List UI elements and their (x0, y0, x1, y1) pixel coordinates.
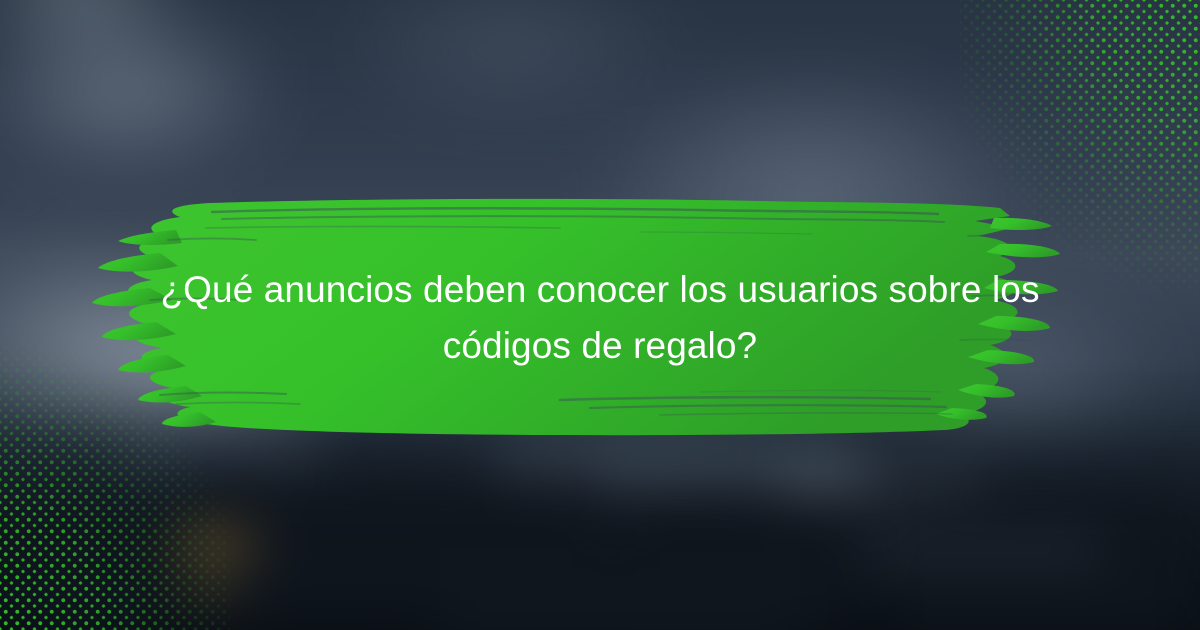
page-title: ¿Qué anuncios deben conocer los usuarios… (160, 262, 1040, 374)
headline-banner: ¿Qué anuncios deben conocer los usuarios… (0, 0, 1200, 630)
share-card: ¿Qué anuncios deben conocer los usuarios… (0, 0, 1200, 630)
